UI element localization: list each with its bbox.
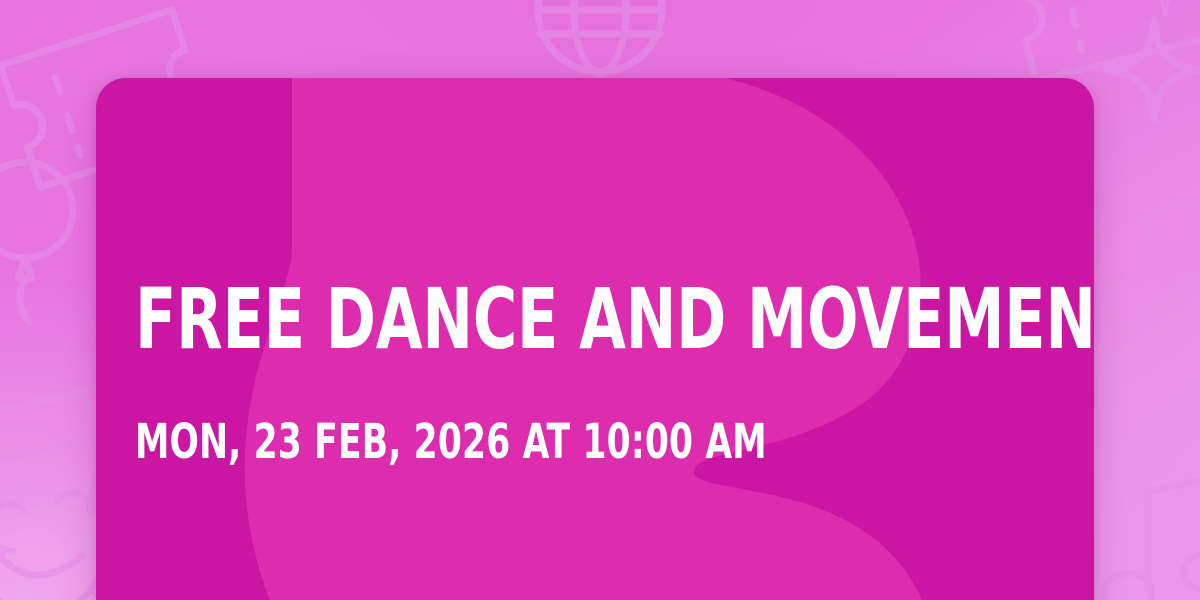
event-banner: Free Dance and Movement Hour Mon, 23 Feb… (0, 0, 1200, 600)
event-card: Free Dance and Movement Hour Mon, 23 Feb… (96, 78, 1094, 600)
event-title: Free Dance and Movement Hour (135, 283, 1094, 355)
event-datetime: Mon, 23 Feb, 2026 at 10:00 AM (135, 418, 767, 466)
card-content: Free Dance and Movement Hour Mon, 23 Feb… (135, 78, 1062, 600)
